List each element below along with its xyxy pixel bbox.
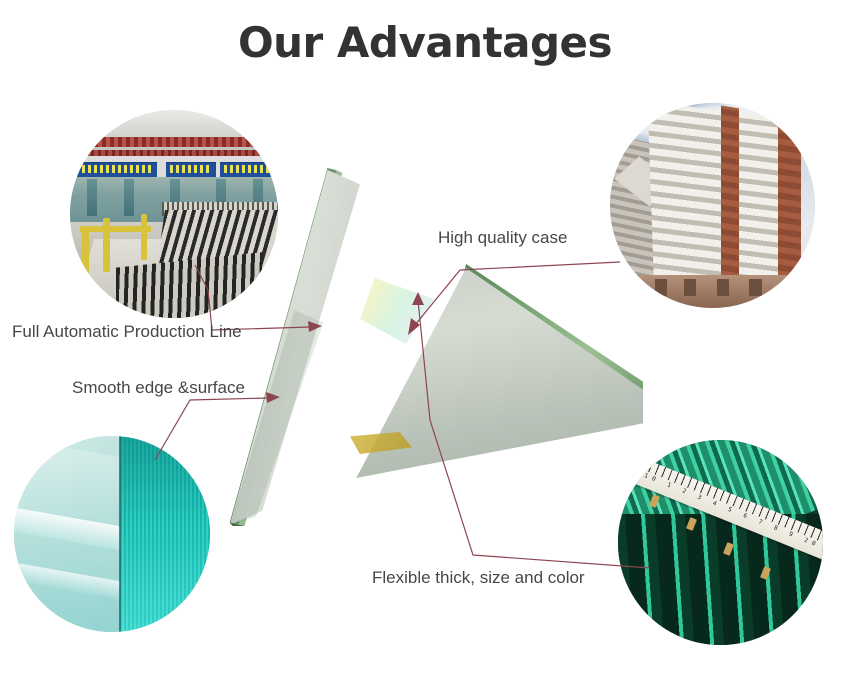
leader-line-smooth	[155, 398, 268, 460]
leader-arrow-flexible	[412, 292, 424, 305]
callout-smooth-edge-surface: Smooth edge &surface	[72, 378, 245, 398]
leader-line-production	[195, 265, 310, 330]
callout-high-quality-case: High quality case	[438, 228, 567, 248]
advantages-banner: Our Advantages	[0, 0, 850, 680]
callout-flexible-thick-size-color: Flexible thick, size and color	[372, 568, 585, 588]
leader-line-case	[415, 262, 620, 325]
leader-line-flexible	[418, 300, 650, 568]
leader-arrow-smooth	[266, 392, 280, 403]
callout-full-automatic-production-line: Full Automatic Production Line	[12, 322, 242, 342]
leader-arrow-production	[308, 321, 322, 332]
